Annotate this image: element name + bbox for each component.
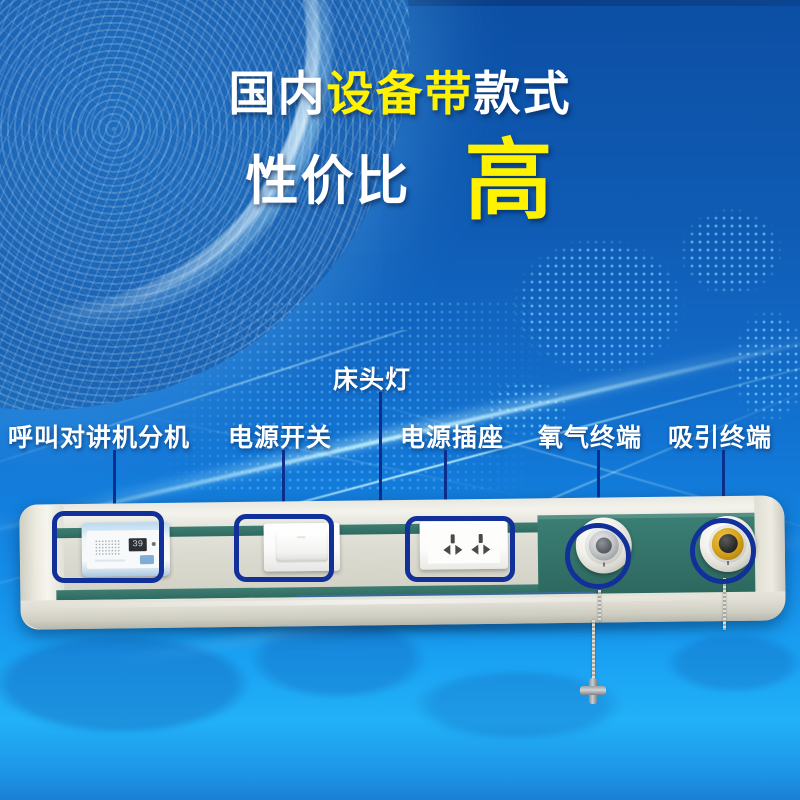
- intercom-brand-strip: [95, 559, 125, 561]
- power-switch[interactable]: [264, 523, 341, 572]
- headline-text-gao: 高: [464, 137, 554, 225]
- suction-cord-upper: [723, 578, 726, 630]
- bed-head-panel: 39: [20, 500, 785, 625]
- callout-label-bed-lamp: 床头灯: [333, 360, 411, 396]
- socket-outlet-left-icon: [440, 534, 466, 556]
- callout-label-oxygen: 氧气终端: [538, 418, 642, 454]
- callout-label-power-switch: 电源开关: [228, 418, 332, 454]
- headline-text-xingjiabi: 性价比: [245, 152, 410, 211]
- headline-text-guonei: 国内: [229, 67, 327, 120]
- headline-line-2: 性价比高: [0, 137, 800, 225]
- panel-body: 39: [19, 495, 785, 629]
- callout-label-intercom: 呼叫对讲机分机: [8, 418, 190, 454]
- intercom-faceplate: 39: [87, 530, 165, 569]
- oxygen-cord-upper: [598, 590, 601, 622]
- callout-label-suction: 吸引终端: [668, 418, 772, 454]
- socket-faceplate: [428, 527, 500, 564]
- socket-outlet-right-icon: [468, 534, 494, 556]
- call-intercom-extension[interactable]: 39: [81, 522, 170, 577]
- call-pull-cord[interactable]: [592, 620, 595, 684]
- headline-text-shebeidai: 设备带: [327, 67, 474, 120]
- callout-label-power-socket: 电源插座: [400, 418, 504, 454]
- speaker-grille-icon: [95, 539, 121, 555]
- power-socket[interactable]: [420, 521, 509, 570]
- call-pull-cord-handle-icon[interactable]: [580, 678, 606, 704]
- oxygen-terminal-marker: [603, 563, 605, 567]
- rocker-switch-icon[interactable]: [276, 532, 328, 562]
- headline-line-1: 国内设备带款式: [0, 70, 800, 117]
- suction-terminal-port-icon: [719, 534, 738, 553]
- promo-image: 国内设备带款式 性价比高 呼叫对讲机分机 电源开关 床头灯 电源插座 氧气终端 …: [0, 0, 800, 800]
- headline-text-kuanshi: 款式: [474, 67, 572, 120]
- suction-terminal-marker: [727, 561, 729, 565]
- intercom-display: 39: [129, 538, 147, 551]
- headline-block: 国内设备带款式 性价比高: [0, 70, 800, 225]
- intercom-call-button[interactable]: [140, 555, 154, 564]
- oxygen-terminal-port-icon: [596, 537, 612, 553]
- status-led-icon: [152, 542, 156, 546]
